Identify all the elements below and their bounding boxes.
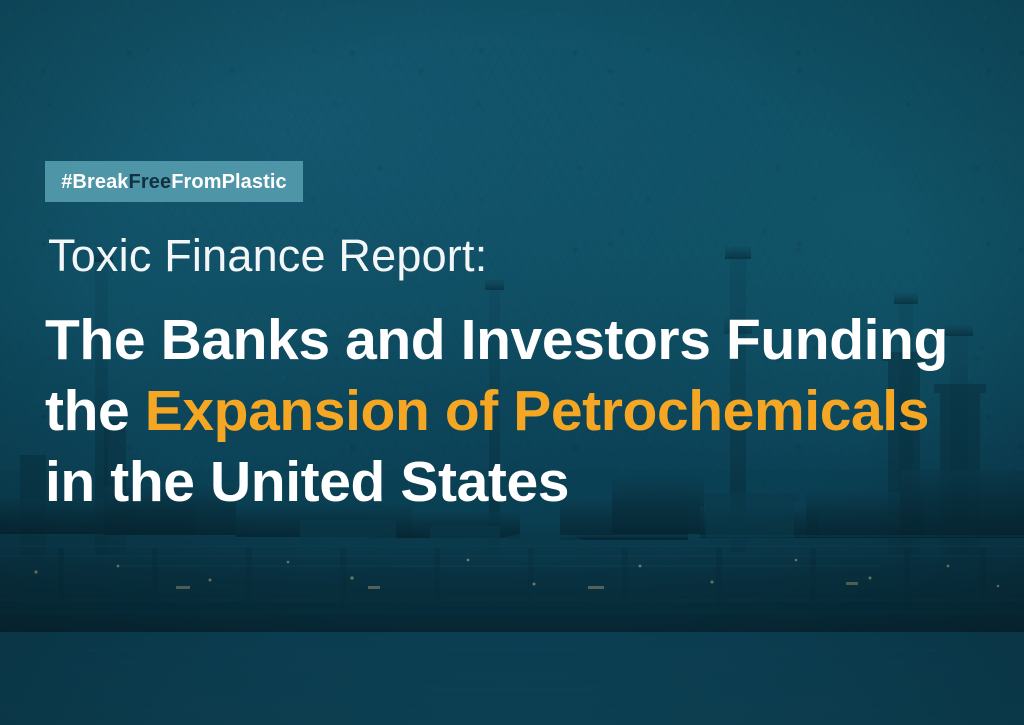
headline-line-3: in the United States — [45, 447, 1024, 518]
cover-content: #BreakFreeFromPlastic Toxic Finance Repo… — [45, 0, 1005, 725]
headline-line-2: the Expansion of Petrochemicals — [45, 376, 1024, 447]
headline-line-1: The Banks and Investors Funding — [45, 305, 1024, 376]
report-eyebrow: Toxic Finance Report: — [48, 232, 487, 279]
campaign-badge-label: #BreakFreeFromPlastic — [61, 172, 287, 192]
campaign-badge-segment-1: #Break — [61, 171, 128, 193]
report-cover: #BreakFreeFromPlastic Toxic Finance Repo… — [0, 0, 1024, 725]
page-title: The Banks and Investors Funding the Expa… — [45, 305, 1024, 518]
campaign-badge-segment-3: FromPlastic — [171, 171, 287, 193]
campaign-badge-segment-2: Free — [129, 171, 172, 193]
headline-highlight: Expansion of Petrochemicals — [145, 379, 929, 443]
campaign-badge: #BreakFreeFromPlastic — [45, 161, 303, 202]
headline-line-2-prefix: the — [45, 379, 145, 443]
